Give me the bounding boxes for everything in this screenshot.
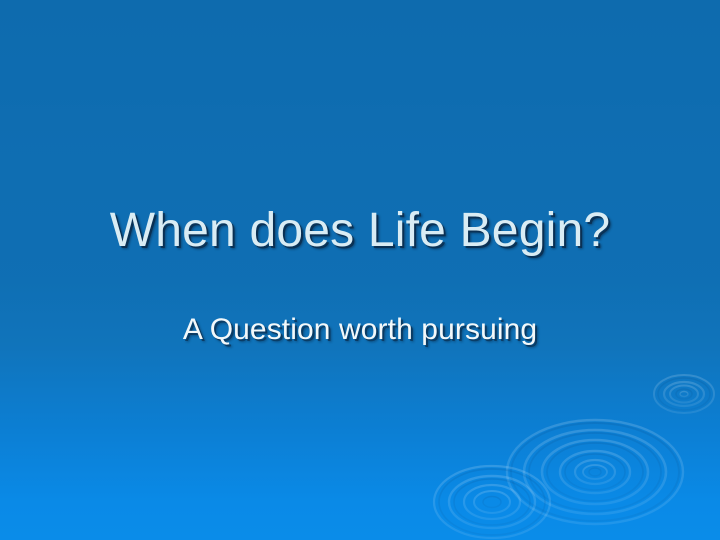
slide-subtitle: A Question worth pursuing [0,311,720,349]
slide-text-layer: When does Life Begin? A Question worth p… [0,0,720,540]
presentation-slide: When does Life Begin? A Question worth p… [0,0,720,540]
slide-title: When does Life Begin? [0,203,720,259]
